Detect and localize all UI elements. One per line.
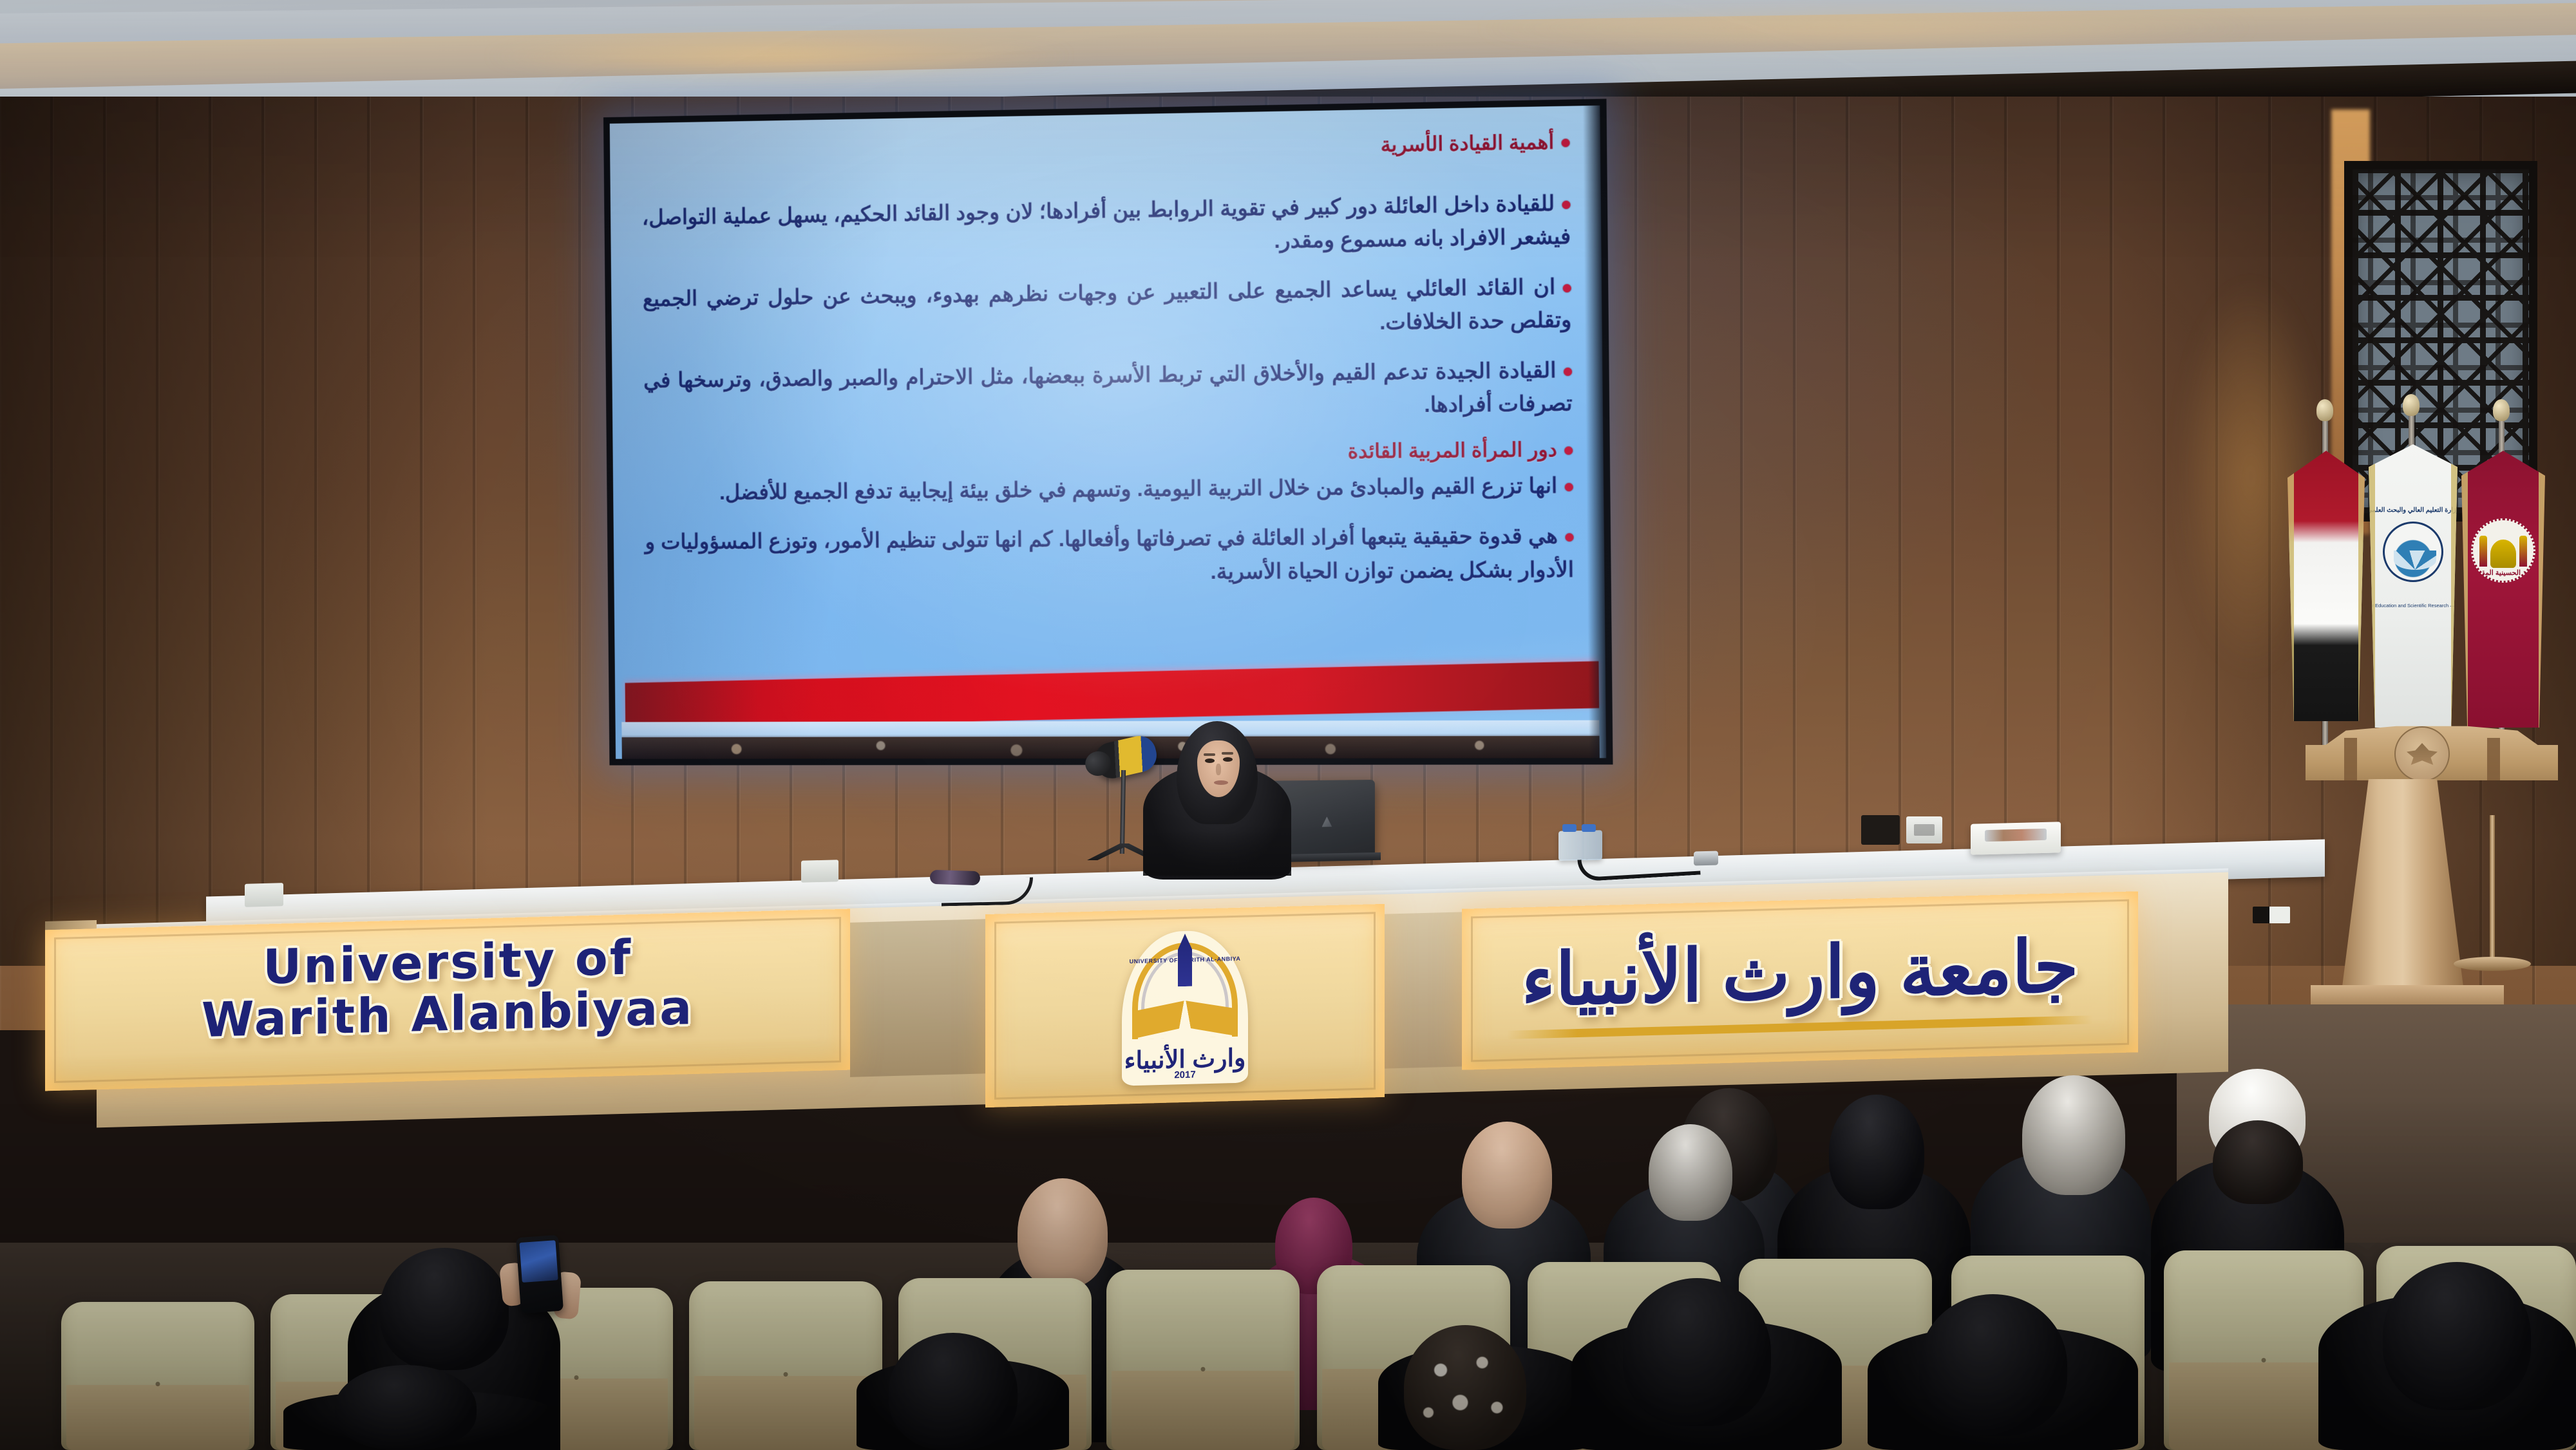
lectern-inlay-right — [2487, 738, 2500, 780]
auditorium-seat[interactable] — [689, 1281, 882, 1450]
bullet-icon — [1565, 483, 1573, 491]
flag-ministry-higher-education: وزارة التعليم العالي والبحث العلمي Minis… — [2369, 444, 2458, 728]
flag-fringe — [2369, 444, 2458, 728]
speaker-mouth — [1214, 780, 1228, 785]
attendee-head — [889, 1333, 1018, 1450]
bullet-icon — [1565, 533, 1573, 541]
minaret-left-icon — [2479, 536, 2487, 567]
bullet-icon — [1562, 200, 1570, 209]
slide-heading-2: دور المرأة المربية القائدة — [644, 437, 1573, 471]
desk-recess-right — [1385, 912, 1463, 1068]
speaker-eye-left — [1205, 758, 1215, 763]
seat-wood-back — [66, 1385, 249, 1450]
flag-republic-of-iraq — [2287, 451, 2365, 721]
wall-socket-far-right[interactable] — [2253, 907, 2290, 923]
bullet-icon — [1564, 446, 1573, 455]
attendee-head-patterned-scarf — [1404, 1325, 1526, 1450]
attendee-head — [1829, 1095, 1924, 1209]
power-plug[interactable] — [1694, 851, 1718, 866]
attendee-head — [2022, 1075, 2125, 1195]
ceiling-light-glow — [489, 33, 1069, 79]
auditorium-seat[interactable] — [1106, 1270, 1300, 1450]
attendee-head — [1018, 1178, 1108, 1288]
flag-ministry-seal — [2383, 522, 2443, 582]
attendee-head — [1462, 1122, 1552, 1229]
slide-surface: أهمية القيادة الأسرية للقيادة داخل العائ… — [610, 106, 1606, 759]
university-name-sign-english: University of Warith Alanbiyaa — [45, 909, 850, 1091]
smartphone-screen — [520, 1240, 558, 1283]
ceiling-light-glow-right — [1481, 5, 2254, 50]
wall-socket-left[interactable] — [801, 860, 838, 883]
flag-finial-shrine — [2493, 399, 2510, 421]
wall-cutout-right — [1861, 815, 1900, 845]
seat-wood-back — [1112, 1371, 1294, 1450]
laptop-logo-icon — [1321, 816, 1332, 827]
flag-fringe — [2461, 451, 2545, 728]
speaker-nose — [1216, 764, 1221, 775]
speaker-eye-right — [1223, 757, 1233, 762]
speaker-eyebrow-left — [1204, 753, 1215, 756]
attendee-head — [1649, 1124, 1732, 1221]
university-emblem: UNIVERSITY OF WARITH AL-ANBIYA وارث الأن… — [1122, 929, 1248, 1086]
bullet-icon — [1564, 368, 1572, 376]
attendee-head — [2383, 1262, 2531, 1410]
lectern-emblem — [2394, 726, 2450, 782]
conference-hall-photo: أهمية القيادة الأسرية للقيادة داخل العائ… — [0, 0, 2576, 1450]
slide-accent-band — [625, 661, 1600, 729]
bottle-cap-right — [1582, 824, 1596, 832]
attendee-head — [335, 1365, 477, 1450]
projection-screen: أهمية القيادة الأسرية للقيادة داخل العائ… — [603, 99, 1613, 765]
university-emblem-sign: UNIVERSITY OF WARITH AL-ANBIYA وارث الأن… — [985, 904, 1385, 1107]
minaret-right-icon — [2519, 536, 2527, 567]
tissue-box[interactable] — [1971, 822, 2061, 854]
university-name-line1: University of Warith Alanbiyaa — [45, 927, 850, 1051]
side-stand-pole — [2490, 815, 2495, 963]
flag-fringe — [2287, 451, 2365, 721]
water-bottles[interactable] — [1558, 830, 1602, 861]
flag-ministry-arabic-label: وزارة التعليم العالي والبحث العلمي — [2367, 507, 2459, 514]
attendee-head — [1919, 1294, 2067, 1436]
bullet-icon — [1563, 284, 1571, 292]
flag-finial-ministry — [2403, 394, 2420, 416]
slide-paragraph-3: القيادة الجيدة تدعم القيم والأخلاق التي … — [643, 353, 1573, 429]
bottle-cap-left — [1562, 824, 1577, 832]
slide-content: أهمية القيادة الأسرية للقيادة داخل العائ… — [625, 122, 1592, 670]
slide-paragraph-4: انها تزرع القيم والمبادئ من خلال التربية… — [645, 469, 1574, 509]
auditorium-seat[interactable] — [61, 1302, 254, 1450]
speaker-shadow — [1143, 831, 1291, 876]
attendee-head — [2213, 1120, 2303, 1204]
wall-socket-right[interactable] — [1906, 816, 1942, 843]
lectern-inlay-left — [2344, 738, 2357, 780]
seat-wood-back — [694, 1376, 877, 1450]
desk-recess-left — [850, 919, 989, 1077]
smartphone[interactable] — [516, 1235, 563, 1313]
slide-paragraph-2: ان القائد العائلي يساعد الجميع على التعب… — [643, 270, 1572, 348]
dome-icon — [2490, 540, 2516, 568]
lectern-emblem-mark — [2407, 743, 2438, 765]
speaker-presenter — [1143, 721, 1291, 876]
flag-shrine-arabic-label: العتبة الحسينية المقدسة — [2471, 569, 2535, 577]
flag-finial-iraq — [2316, 399, 2333, 421]
attendee-head-phone-user — [380, 1248, 509, 1370]
university-name-sign-arabic: جامعة وارث الأنبياء — [1462, 891, 2138, 1069]
university-name-arabic: جامعة وارث الأنبياء — [1462, 928, 2138, 1018]
flag-shrine-seal: العتبة الحسينية المقدسة — [2471, 518, 2535, 583]
bullet-icon — [1561, 139, 1569, 147]
side-stand-base — [2454, 957, 2531, 971]
attendee-head — [1623, 1278, 1771, 1426]
tissue-box-graphic — [1985, 829, 2047, 842]
flag-imam-hussein-holy-shrine: العتبة الحسينية المقدسة — [2461, 451, 2545, 728]
speaker-eyebrow-right — [1222, 752, 1233, 755]
wall-socket-far-left[interactable] — [245, 883, 283, 907]
slide-paragraph-5: هي قدوة حقيقية يتبعها أفراد العائلة في ت… — [645, 519, 1574, 591]
